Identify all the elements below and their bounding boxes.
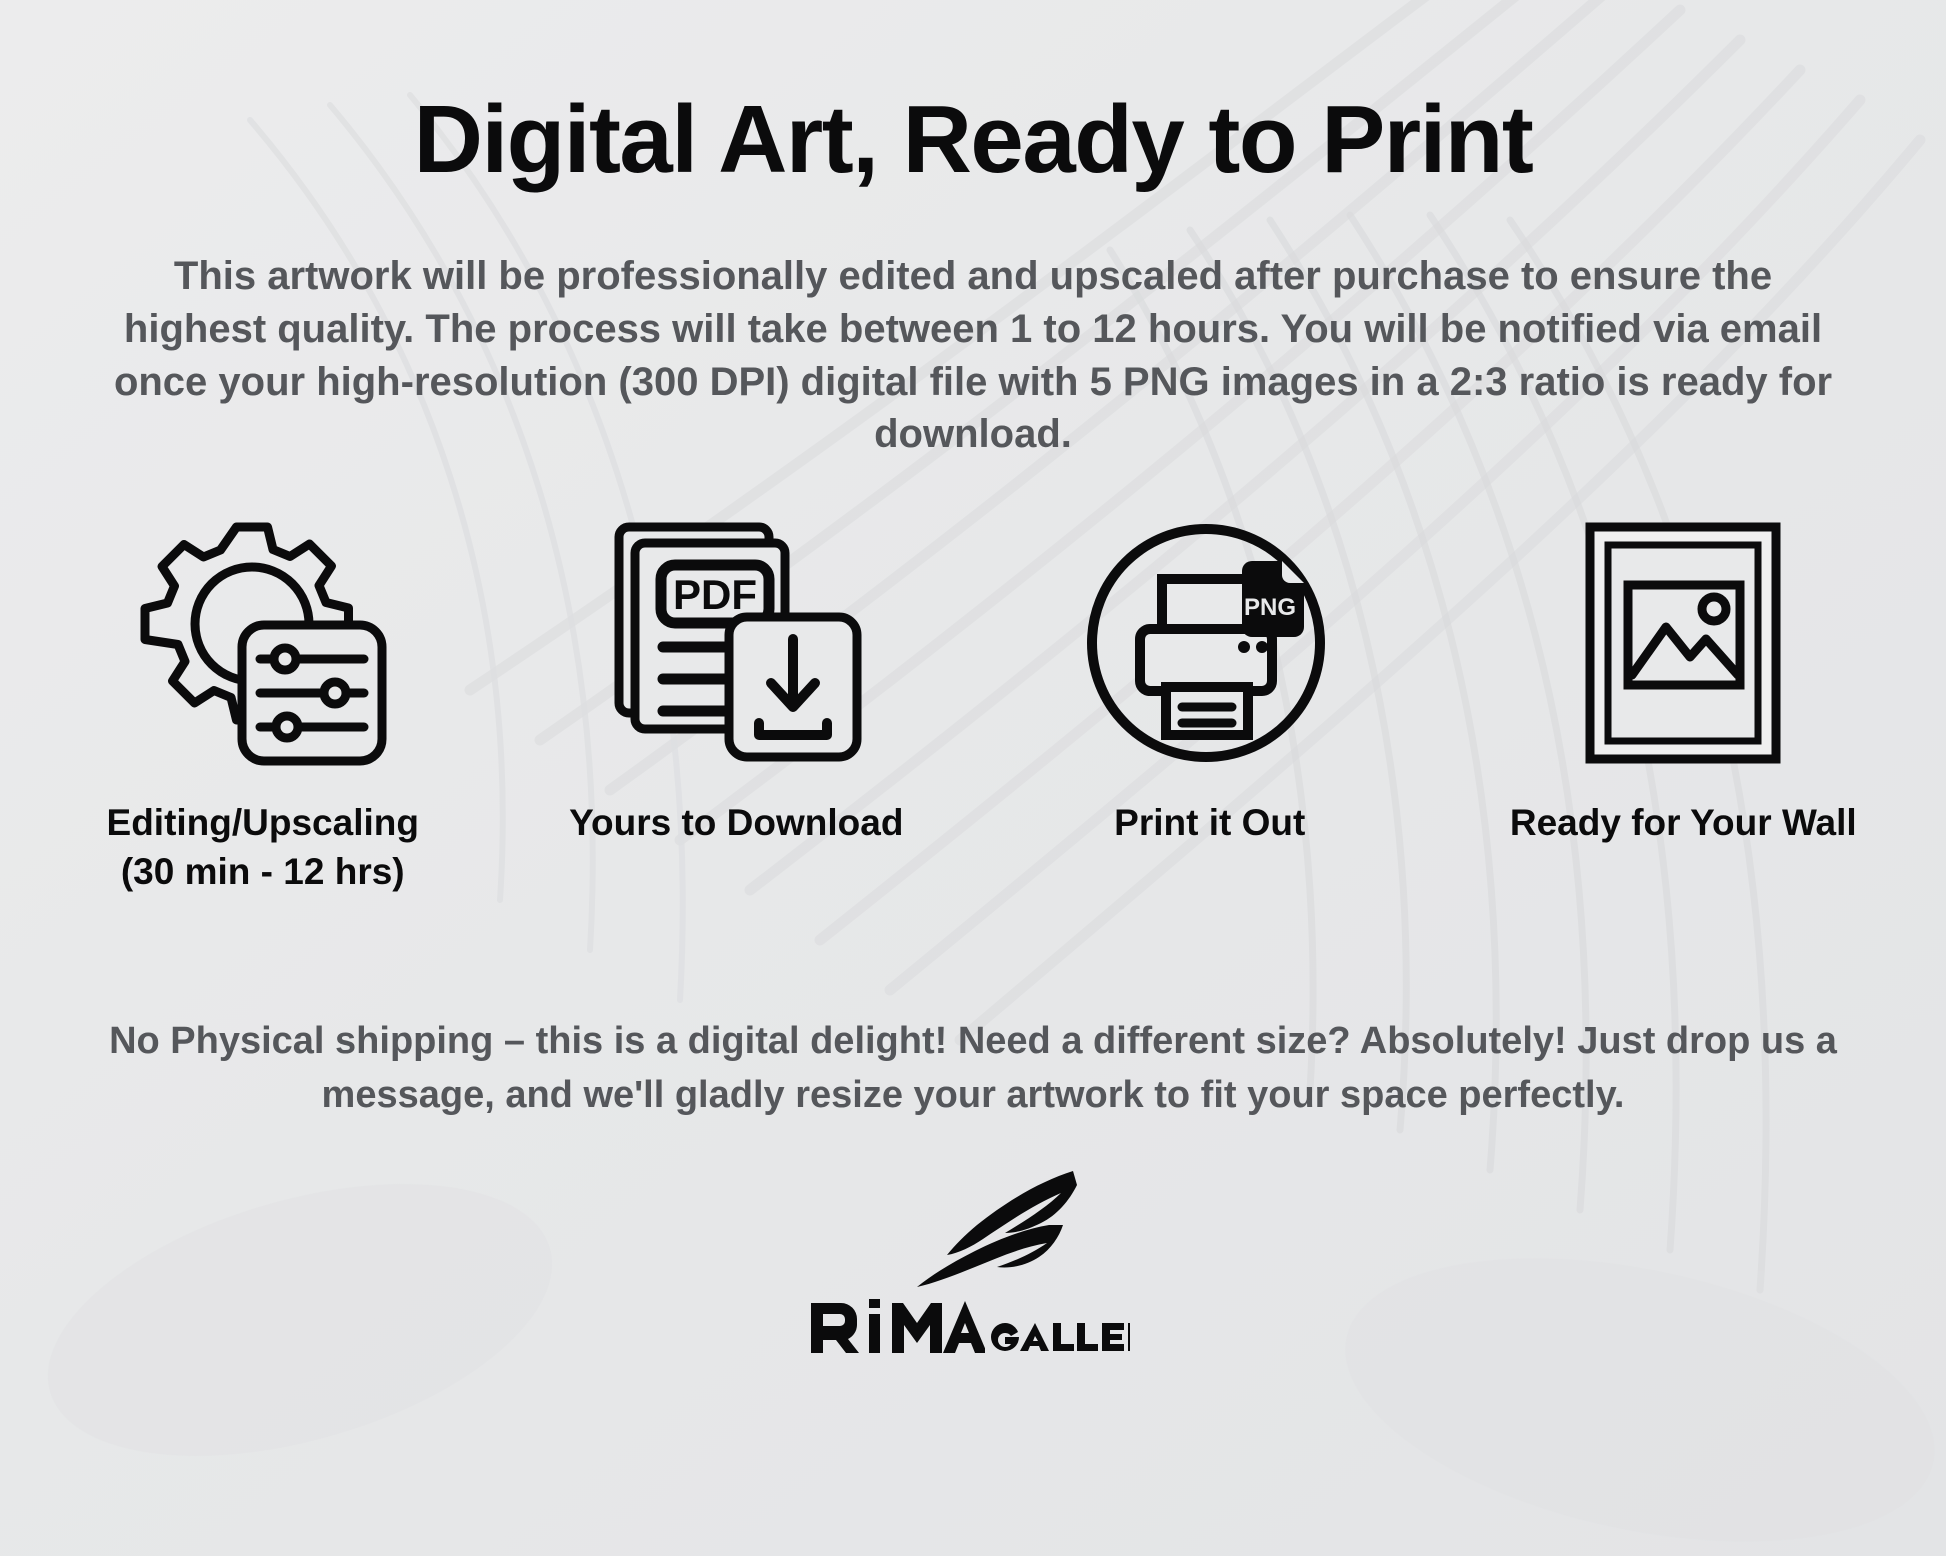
outro-paragraph: No Physical shipping – this is a digital…: [33, 1015, 1913, 1123]
feature-row: Editing/Upscaling (30 min - 12 hrs) PDF: [0, 509, 1946, 897]
feature-label-editing-upscaling: Editing/Upscaling (30 min - 12 hrs): [107, 799, 419, 897]
promo-graphic: Digital Art, Ready to Print This artwork…: [0, 0, 1946, 1556]
brand-logo: [807, 1167, 1139, 1355]
brand-wordmark: [807, 1297, 1139, 1355]
feature-item-print: PNG Print it Out: [973, 509, 1447, 848]
feature-item-wall: Ready for Your Wall: [1447, 509, 1921, 848]
rima-swoosh-logo-icon: [865, 1167, 1081, 1291]
feature-label-print: Print it Out: [1114, 799, 1305, 848]
brand-name-secondary: [985, 1319, 1139, 1355]
intro-paragraph: This artwork will be professionally edit…: [53, 250, 1893, 461]
pdf-badge-text: PDF: [673, 571, 757, 618]
brand-name-primary: [807, 1297, 985, 1355]
pdf-download-icon: PDF: [605, 509, 867, 777]
printer-circle-icon: PNG: [1084, 509, 1336, 777]
framed-picture-icon: [1580, 509, 1786, 777]
feature-item-download: PDF Yours to Download: [500, 509, 974, 848]
feature-item-editing-upscaling: Editing/Upscaling (30 min - 12 hrs): [26, 509, 500, 897]
feature-label-line-1: Editing/Upscaling: [107, 802, 419, 843]
feature-label-wall: Ready for Your Wall: [1510, 799, 1857, 848]
png-badge-text: PNG: [1244, 594, 1296, 621]
feature-label-line-2: (30 min - 12 hrs): [121, 851, 405, 892]
feature-label-download: Yours to Download: [569, 799, 903, 848]
gear-sliders-icon: [135, 509, 391, 777]
page-title: Digital Art, Ready to Print: [414, 92, 1533, 188]
